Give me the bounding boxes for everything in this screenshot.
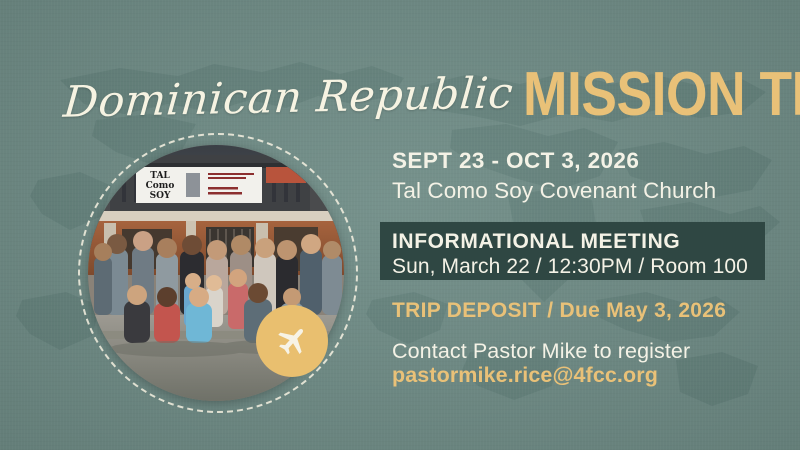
meeting-heading: INFORMATIONAL MEETING xyxy=(392,230,765,253)
title-bold-text: MISSION TRIP xyxy=(523,64,800,126)
trip-deposit-text: TRIP DEPOSIT / Due May 3, 2026 xyxy=(392,299,726,323)
church-name: Tal Como Soy Covenant Church xyxy=(392,177,772,205)
title-script-text: Dominican Republic xyxy=(62,72,515,124)
airplane-badge xyxy=(256,305,328,377)
informational-meeting-box: INFORMATIONAL MEETING Sun, March 22 / 12… xyxy=(380,222,765,280)
meeting-details: Sun, March 22 / 12:30PM / Room 100 xyxy=(392,254,765,279)
airplane-icon xyxy=(273,322,311,360)
contact-prompt: Contact Pastor Mike to register xyxy=(392,339,690,364)
svg-text:TAL: TAL xyxy=(150,171,170,181)
trip-details: SEPT 23 - OCT 3, 2026 Tal Como Soy Coven… xyxy=(392,148,772,204)
poster-title: Dominican Republic MISSION TRIP xyxy=(64,46,744,126)
trip-dates: SEPT 23 - OCT 3, 2026 xyxy=(392,148,772,175)
mission-trip-poster: Dominican Republic MISSION TRIP xyxy=(0,0,800,450)
contact-email[interactable]: pastormike.rice@4fcc.org xyxy=(392,363,658,388)
photo-section: TAL Como SOY xyxy=(84,141,348,405)
svg-text:SOY: SOY xyxy=(150,191,171,201)
svg-text:Como: Como xyxy=(146,181,175,191)
